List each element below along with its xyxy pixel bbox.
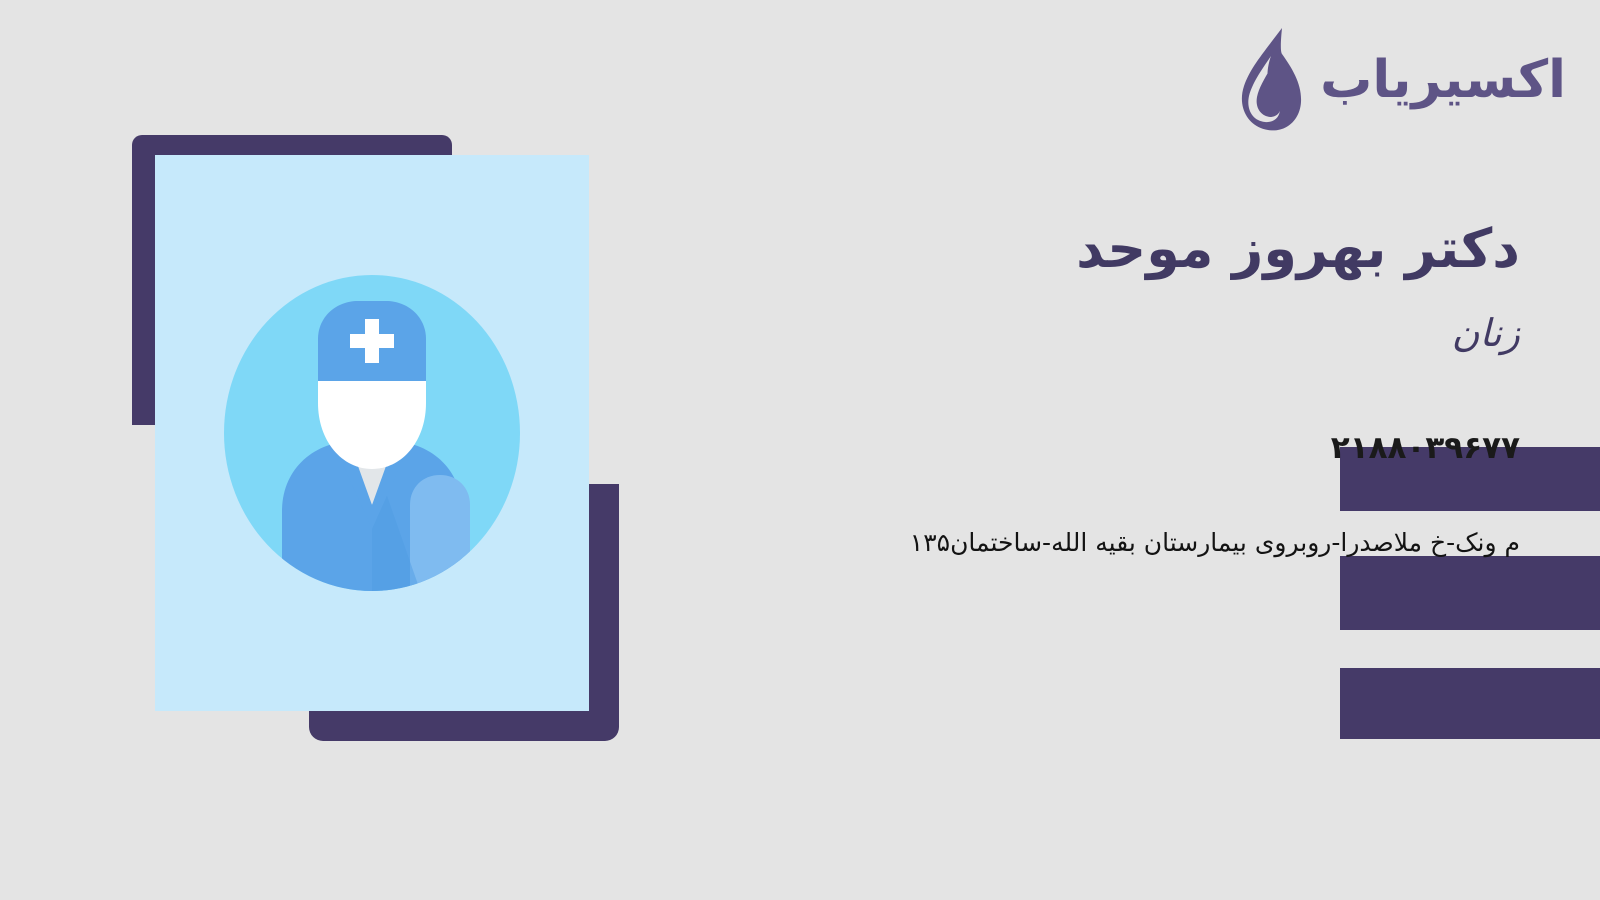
doctor-illustration <box>132 135 619 741</box>
brand-name: اکسیریاب <box>1320 54 1566 106</box>
decor-bar-2 <box>1340 556 1600 630</box>
doctor-photo-card <box>155 155 589 711</box>
decor-bar-3 <box>1340 668 1600 739</box>
flame-drop-icon <box>1224 26 1310 134</box>
doctor-name: دکتر بهروز موحد <box>620 215 1520 283</box>
doctor-avatar-icon <box>192 253 552 613</box>
doctor-address: م ونک-خ ملاصدرا-روبروی بیمارستان بقیه ال… <box>620 528 1520 557</box>
doctor-phone[interactable]: ۲۱۸۸۰۳۹۶۷۷ <box>620 430 1520 466</box>
brand-logo[interactable]: اکسیریاب <box>1224 26 1566 134</box>
doctor-info: دکتر بهروز موحد زنان ۲۱۸۸۰۳۹۶۷۷ م ونک-خ … <box>620 215 1520 557</box>
doctor-profile-card: اکسیریاب <box>0 0 1600 900</box>
doctor-specialty: زنان <box>620 309 1520 358</box>
